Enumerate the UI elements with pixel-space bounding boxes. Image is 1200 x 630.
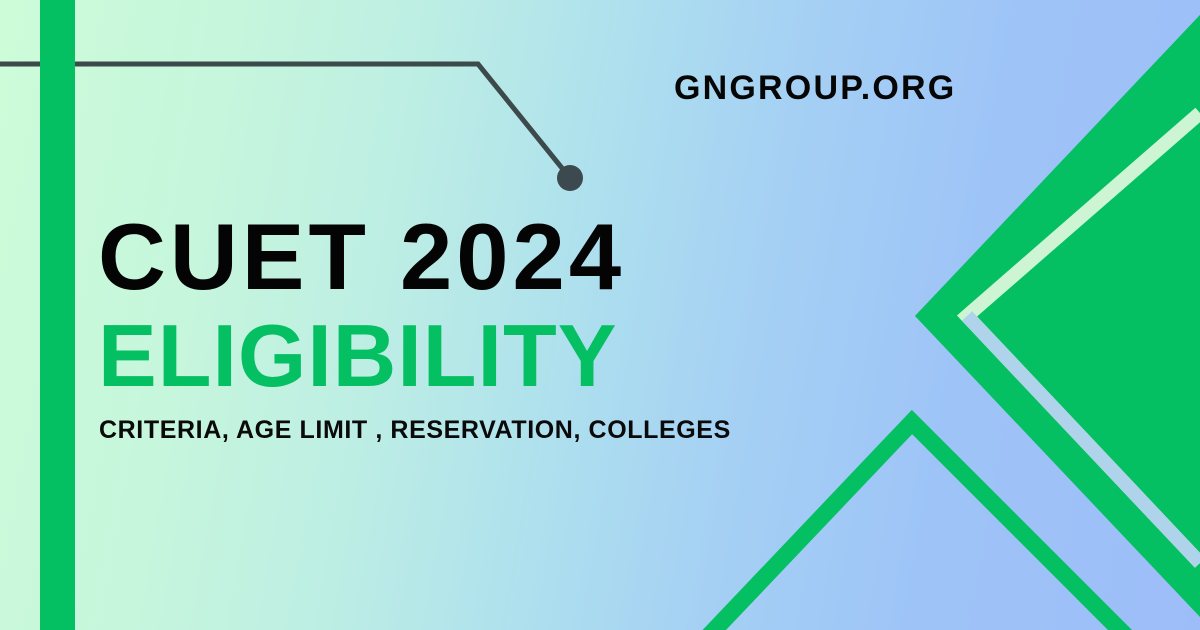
- pointer-elbow-line: [0, 64, 570, 178]
- tagline-text: CRITERIA, AGE LIMIT , RESERVATION, COLLE…: [99, 418, 731, 443]
- left-green-bar: [40, 0, 75, 630]
- pointer-dot: [557, 165, 583, 191]
- page-subtitle: ELIGIBILITY: [98, 312, 617, 400]
- brand-label: GNGROUP.ORG: [674, 71, 956, 105]
- page-title: CUET 2024: [98, 210, 625, 304]
- banner-graphic: GNGROUP.ORG CUET 2024 ELIGIBILITY CRITER…: [0, 0, 1200, 630]
